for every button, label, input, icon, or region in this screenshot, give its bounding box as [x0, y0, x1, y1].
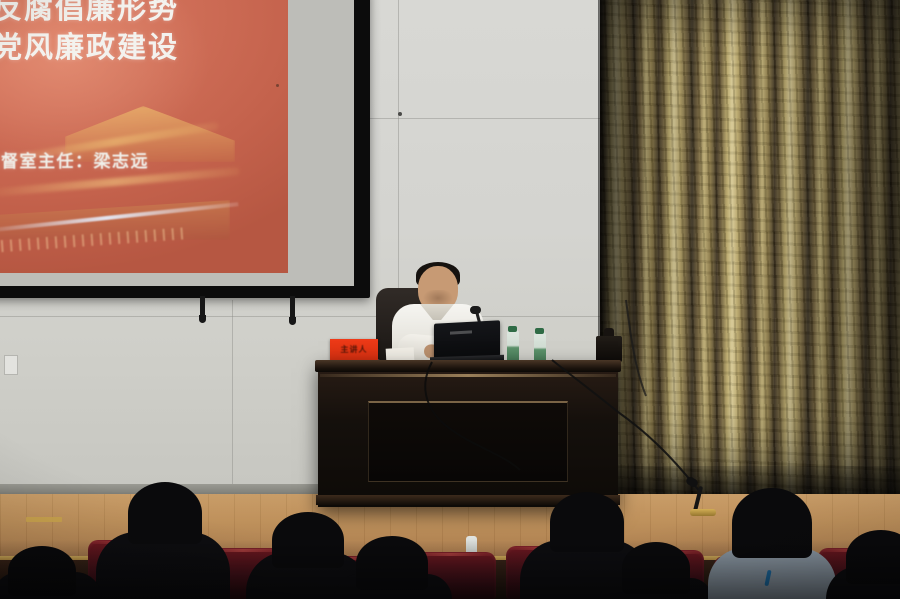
lecture-hall-scene: 前反腐倡廉形势 校党风廉政建设 风监督室主任：梁志远 主讲人 [0, 0, 900, 599]
audience-member-head [622, 542, 690, 594]
audience-member-head [8, 546, 76, 596]
audience-member-head [550, 492, 624, 552]
audience [0, 0, 900, 599]
audience-member-head [272, 512, 344, 568]
audience-member-head [356, 536, 428, 590]
audience-member-head [846, 530, 900, 584]
audience-member-head [732, 488, 812, 558]
audience-member-head [128, 482, 202, 544]
